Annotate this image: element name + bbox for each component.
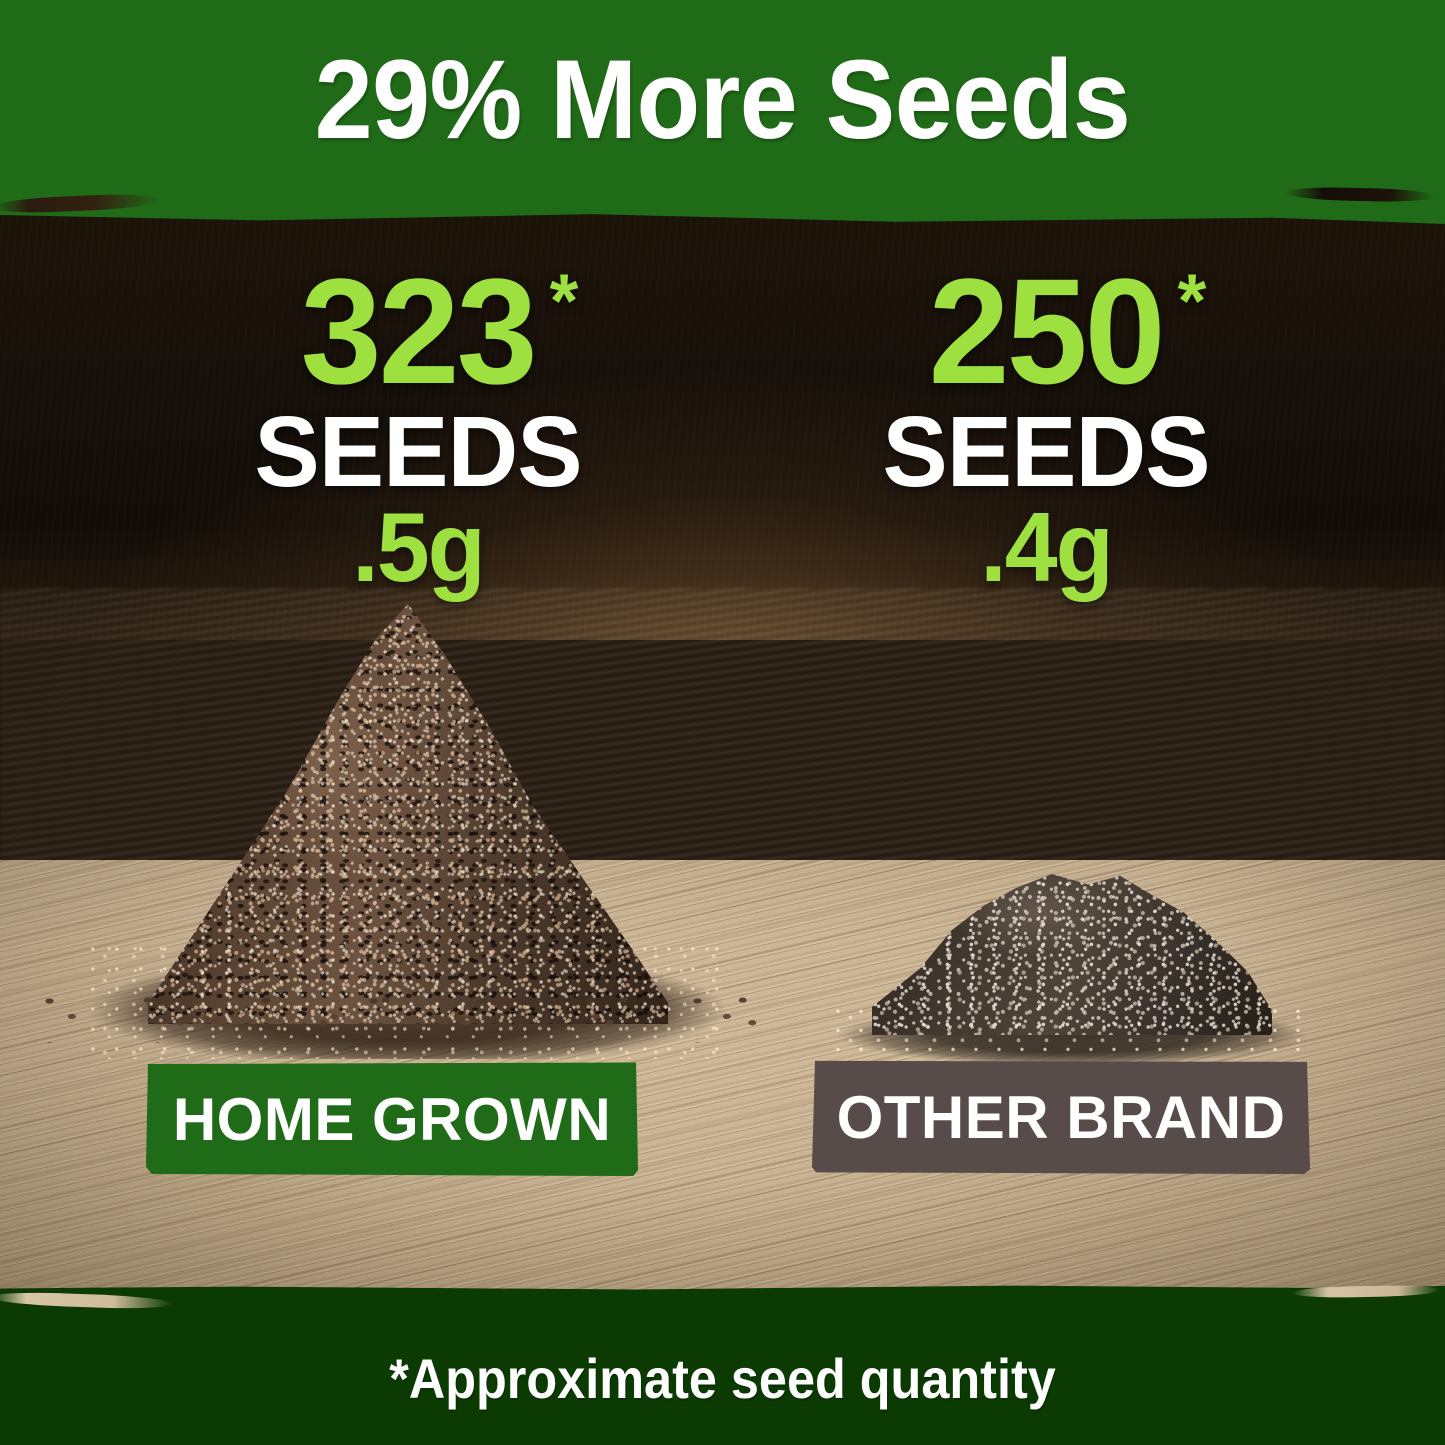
stat-block-other-brand: 250* SEEDS .4g [836, 262, 1256, 596]
seeds-label-other-brand: SEEDS [840, 402, 1252, 502]
seed-count-other-brand: 250* [929, 262, 1163, 400]
seed-count-value-other-brand: 250 [929, 247, 1163, 415]
scattered-seeds-large [43, 979, 773, 1043]
disclaimer-text: *Approximate seed quantity [72, 1351, 1373, 1407]
asterisk-home-grown: * [550, 264, 576, 340]
seed-comparison-advertisement: 29% More Seeds 323* SEEDS .5g 250* SEEDS… [0, 0, 1445, 1445]
seed-weight-home-grown: .5g [214, 498, 621, 596]
label-plate-other-brand: OTHER BRAND [812, 1060, 1310, 1174]
footer-banner: *Approximate seed quantity [0, 1283, 1445, 1445]
label-plate-other-brand-text: OTHER BRAND [837, 1083, 1286, 1152]
seed-count-home-grown: 323* [301, 262, 535, 400]
pile-cone-large [148, 604, 668, 1024]
asterisk-other-brand: * [1178, 264, 1204, 340]
seed-weight-other-brand: .4g [842, 498, 1249, 596]
pile-mound-small [872, 860, 1272, 1035]
chia-seed-pile-small [832, 860, 1312, 1065]
label-plate-home-grown: HOME GROWN [146, 1062, 638, 1176]
label-plate-home-grown-text: HOME GROWN [173, 1085, 611, 1154]
seeds-label-home-grown: SEEDS [212, 402, 624, 502]
header-banner: 29% More Seeds [0, 0, 1445, 224]
page-title: 29% More Seeds [51, 44, 1395, 156]
stat-block-home-grown: 323* SEEDS .5g [208, 262, 628, 596]
chia-seed-pile-large [88, 604, 728, 1059]
seed-count-value-home-grown: 323 [301, 247, 535, 415]
